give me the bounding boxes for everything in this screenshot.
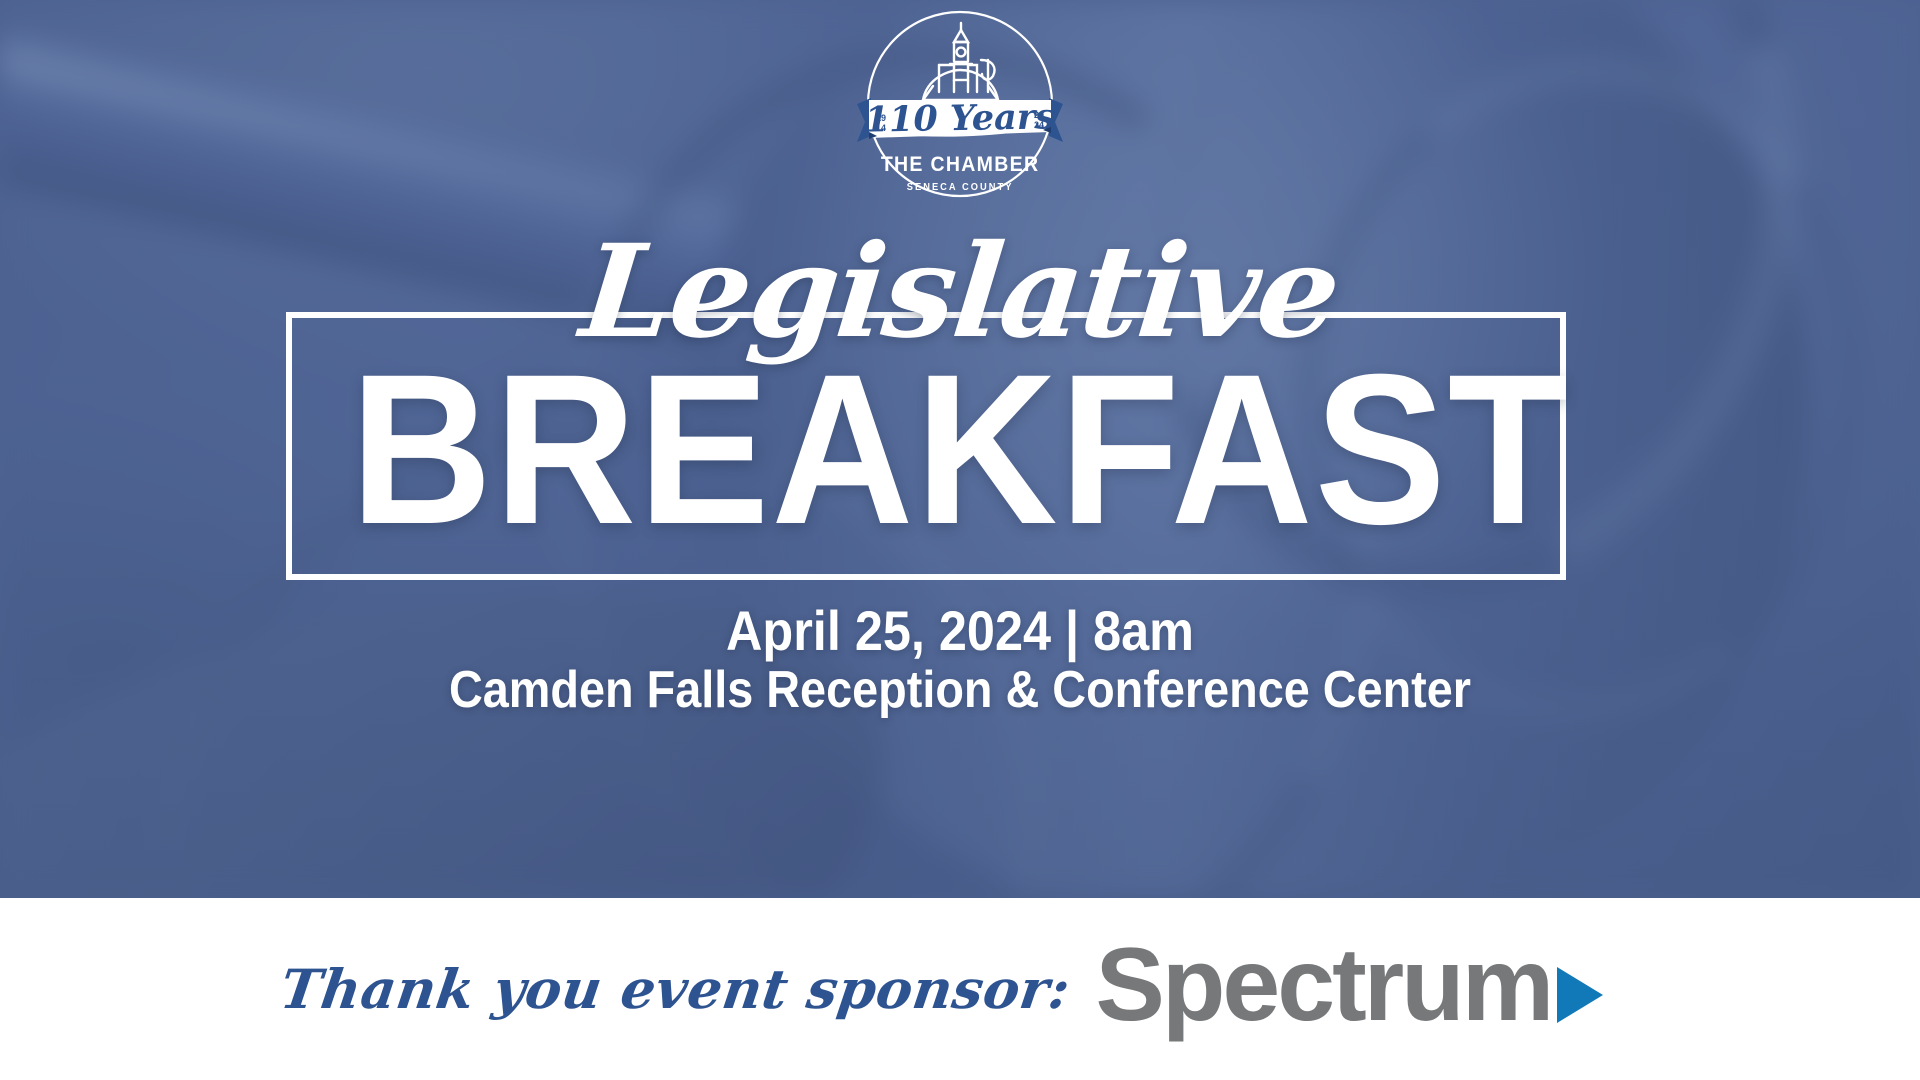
spectrum-logo: Spectrum (1096, 937, 1604, 1041)
sponsor-inner: Thank you event sponsor: Spectrum (281, 937, 1603, 1041)
sponsor-thanks-text: Thank you event sponsor: (276, 957, 1074, 1021)
chamber-110-years-logo: 19 14 20 24 110 Years THE CHAMBER SENECA… (855, 8, 1065, 208)
seneca-county-skyline-icon (923, 23, 998, 100)
script-title-legislative: Legislative (0, 228, 1920, 356)
event-date-time: April 25, 2024 | 8am (96, 600, 1824, 662)
event-venue: Camden Falls Reception & Conference Cent… (96, 662, 1824, 719)
logo-org-region: SENECA COUNTY (907, 182, 1014, 193)
spectrum-wordmark: Spectrum (1096, 933, 1552, 1037)
logo-org-name: THE CHAMBER (881, 153, 1040, 176)
hero-section: 19 14 20 24 110 Years THE CHAMBER SENECA… (0, 0, 1920, 898)
logo-anniversary-text: 110 Years (864, 96, 1055, 140)
main-title-breakfast: BREAKFAST (77, 352, 1843, 549)
legislative-breakfast-flyer: 19 14 20 24 110 Years THE CHAMBER SENECA… (0, 0, 1920, 1080)
blue-play-triangle-icon (1557, 967, 1603, 1023)
sponsor-bar: Thank you event sponsor: Spectrum (0, 898, 1920, 1080)
